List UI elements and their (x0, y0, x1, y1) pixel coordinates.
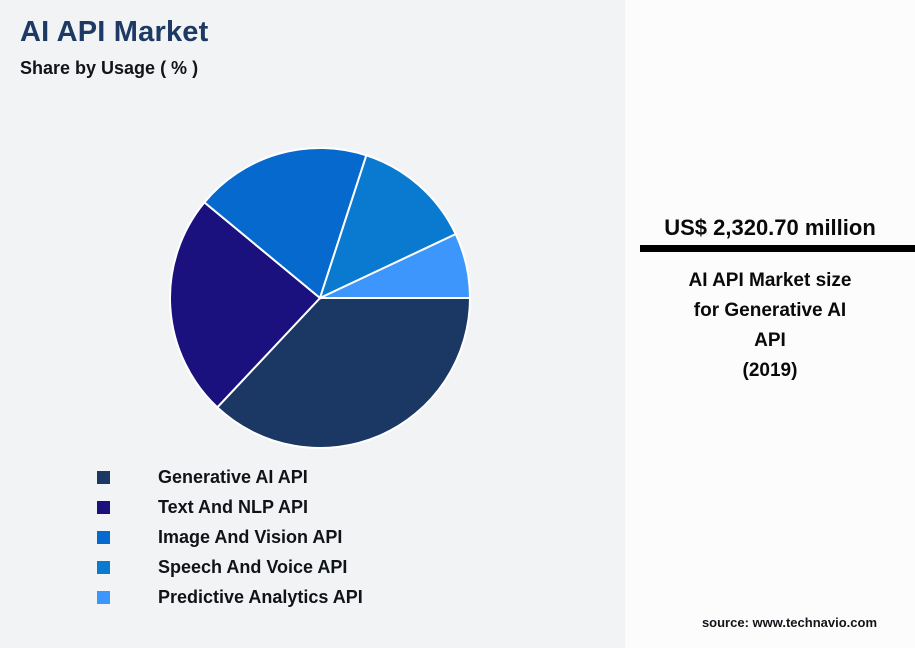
legend-item: Predictive Analytics API (97, 582, 517, 612)
legend-swatch-icon (97, 561, 110, 574)
chart-subtitle: Share by Usage ( % ) (20, 58, 198, 79)
source-attribution: source: www.technavio.com (702, 615, 877, 630)
callout-desc-line-2: for Generative AI (637, 296, 903, 326)
pie-chart-svg (170, 148, 470, 448)
legend-swatch-icon (97, 591, 110, 604)
pie-chart (170, 148, 470, 448)
market-size-description: AI API Market size for Generative AI API… (637, 266, 903, 386)
legend-item-label: Speech And Voice API (158, 557, 347, 578)
legend-item-label: Generative AI API (158, 467, 308, 488)
chart-canvas: AI API Market Share by Usage ( % ) Gener… (0, 0, 915, 648)
legend-swatch-icon (97, 531, 110, 544)
legend-item-label: Text And NLP API (158, 497, 308, 518)
chart-right-panel: US$ 2,320.70 million AI API Market size … (625, 0, 915, 648)
callout-desc-line-3: API (637, 326, 903, 356)
legend-swatch-icon (97, 471, 110, 484)
callout-desc-line-4: (2019) (637, 356, 903, 386)
legend-item-label: Image And Vision API (158, 527, 342, 548)
legend-item: Generative AI API (97, 462, 517, 492)
chart-legend: Generative AI APIText And NLP APIImage A… (97, 462, 517, 612)
legend-item-label: Predictive Analytics API (158, 587, 363, 608)
callout-divider (640, 245, 915, 252)
page-title: AI API Market (20, 16, 208, 49)
legend-swatch-icon (97, 501, 110, 514)
legend-item: Speech And Voice API (97, 552, 517, 582)
market-size-value: US$ 2,320.70 million (625, 215, 915, 241)
legend-item: Text And NLP API (97, 492, 517, 522)
callout-desc-line-1: AI API Market size (637, 266, 903, 296)
legend-item: Image And Vision API (97, 522, 517, 552)
chart-left-panel: AI API Market Share by Usage ( % ) Gener… (0, 0, 625, 648)
